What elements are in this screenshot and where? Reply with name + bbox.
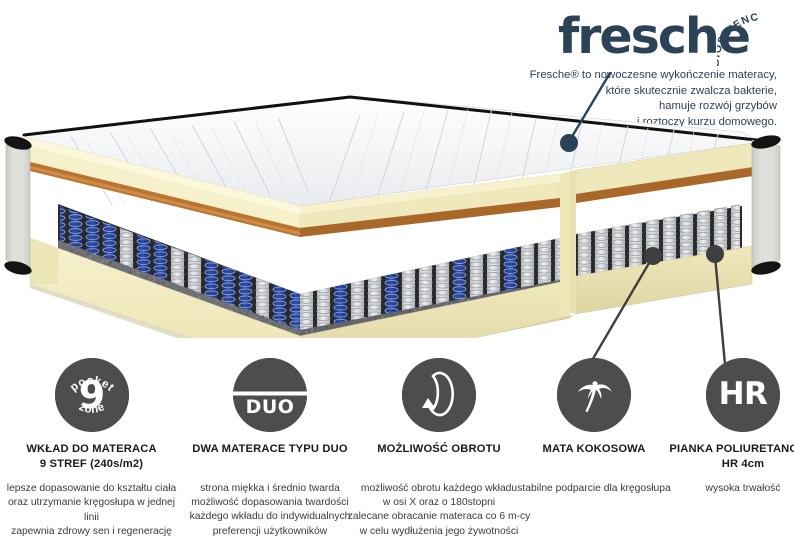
brand-block: fresche BIOSCIENCE Fresche® to nowoczesn… — [505, 12, 787, 66]
feature-title: PIANKA POLIURETANOWA HR 4cm — [650, 442, 794, 471]
feature-desc-line-2: oraz utrzymanie kręgosłupa w jednej lini… — [0, 496, 183, 525]
feature-desc-line-3: zapewnia zdrowy sen i regenerację — [0, 525, 183, 539]
brand-desc-line-1: Fresche® to nowoczesne wykończenie mater… — [505, 68, 777, 84]
feature-duo: DUO DWA MATERACE TYPU DUO strona miękka … — [180, 358, 360, 539]
duo-label: DUO — [233, 396, 307, 418]
feature-desc-line-1: lepsze dopasowanie do kształtu ciała — [0, 482, 183, 496]
feature-title: WKŁAD DO MATERACA 9 STREF (240s/m2) — [0, 442, 183, 471]
feature-description: strona miękka i średnio twarda możliwość… — [180, 482, 360, 540]
mattress-cutaway-illustration — [0, 88, 794, 338]
feature-description: lepsze dopasowanie do kształtu ciała ora… — [0, 482, 183, 540]
feature-desc-line-2: w osi X oraz o 180stopni — [340, 496, 538, 510]
hr-label: HR — [706, 375, 780, 413]
feature-title-line-1: PIANKA POLIURETANOWA — [650, 442, 794, 457]
feature-pocket-9-zone: pocket 9 zone WKŁAD DO MATERACA 9 STREF … — [0, 358, 183, 540]
svg-text:BIOSCIENCE: BIOSCIENCE — [717, 12, 760, 67]
feature-title: DWA MATERACE TYPU DUO — [180, 442, 360, 457]
feature-hr-foam: HR PIANKA POLIURETANOWA HR 4cm wysoka tr… — [650, 358, 794, 496]
hr-foam-icon: HR — [706, 358, 780, 432]
pocket-9-zone-icon: pocket 9 zone — [55, 358, 129, 432]
feature-title-line-2: HR 4cm — [650, 457, 794, 472]
feature-title-line-1: DWA MATERACE TYPU DUO — [180, 442, 360, 457]
palm-tree-icon — [557, 358, 631, 432]
feature-title-line-1: WKŁAD DO MATERACA — [0, 442, 183, 457]
feature-desc-line-4: preferencji użytkowników — [180, 525, 360, 539]
feature-desc-line-3: każdego wkładu do indywidualnych — [180, 510, 360, 524]
feature-desc-line-3: zalecane obracanie materaca co 6 m-cy — [340, 510, 538, 524]
brand-arc-label: BIOSCIENCE — [717, 12, 760, 67]
brand-logo: fresche BIOSCIENCE — [505, 12, 787, 66]
feature-desc-line-1: wysoka trwałość — [650, 482, 794, 496]
feature-description: wysoka trwałość — [650, 482, 794, 496]
rotation-arrow-icon — [402, 358, 476, 432]
brand-logo-arc-text: BIOSCIENCE — [717, 12, 791, 76]
infographic-canvas: fresche BIOSCIENCE Fresche® to nowoczesn… — [0, 0, 794, 542]
feature-title-line-2: 9 STREF (240s/m2) — [0, 457, 183, 472]
feature-desc-line-2: możliwość dopasowania twardości — [180, 496, 360, 510]
feature-desc-line-4: w celu wydłużenia jego żywotności — [340, 525, 538, 539]
duo-icon: DUO — [233, 358, 307, 432]
feature-desc-line-1: strona miękka i średnio twarda — [180, 482, 360, 496]
